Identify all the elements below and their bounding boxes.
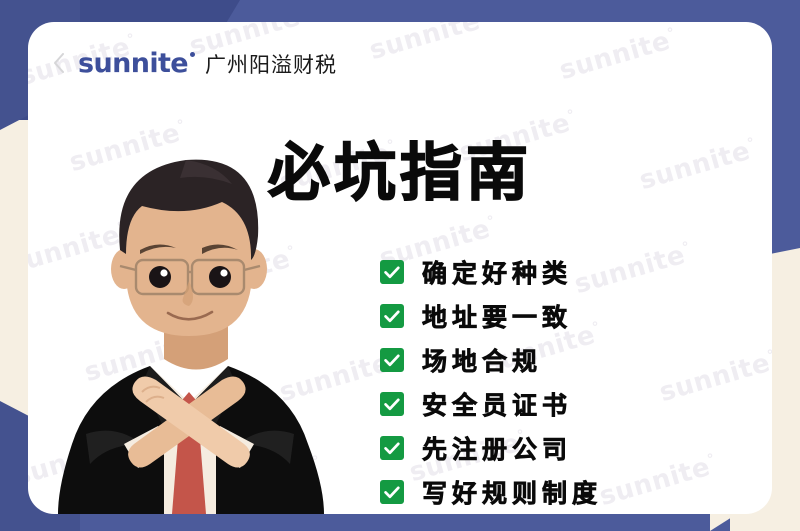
checklist-item-label: 写好规则制度	[422, 474, 602, 510]
check-icon	[380, 480, 404, 504]
check-icon	[380, 260, 404, 284]
chevron-left-icon[interactable]	[50, 52, 68, 74]
checklist-item[interactable]: 安全员证书	[380, 382, 602, 426]
checklist-item[interactable]: 场地合规	[380, 338, 602, 382]
poster-canvas: sunnite sunnite sunnite sunnite sunnite …	[0, 0, 800, 531]
content-card: sunnite sunnite sunnite sunnite sunnite …	[28, 22, 772, 514]
check-icon	[380, 392, 404, 416]
sunnite-logo: sunnite	[78, 50, 195, 77]
checklist-item-label: 场地合规	[422, 342, 542, 378]
checklist-item[interactable]: 先注册公司	[380, 426, 602, 470]
check-icon	[380, 304, 404, 328]
watermark-text: sunnite	[656, 346, 772, 408]
watermark-text: sunnite	[596, 450, 721, 512]
checklist-item-label: 安全员证书	[422, 386, 572, 422]
page-header: sunnite 广州阳溢财税	[28, 40, 772, 86]
checklist-item-label: 确定好种类	[422, 254, 572, 290]
checklist-item[interactable]: 确定好种类	[380, 250, 602, 294]
check-icon	[380, 348, 404, 372]
brand-name: 广州阳溢财税	[205, 55, 337, 76]
checklist-item-label: 先注册公司	[422, 430, 572, 466]
page-title: 必坑指南	[28, 122, 772, 212]
check-icon	[380, 436, 404, 460]
logo-dot-icon	[190, 52, 195, 57]
logo-wordmark: sunnite	[78, 50, 188, 77]
checklist: 确定好种类 地址要一致 场地合规	[380, 250, 602, 514]
checklist-item-label: 地址要一致	[422, 298, 572, 334]
checklist-item[interactable]: 地址要一致	[380, 294, 602, 338]
checklist-item[interactable]: 写好规则制度	[380, 470, 602, 514]
